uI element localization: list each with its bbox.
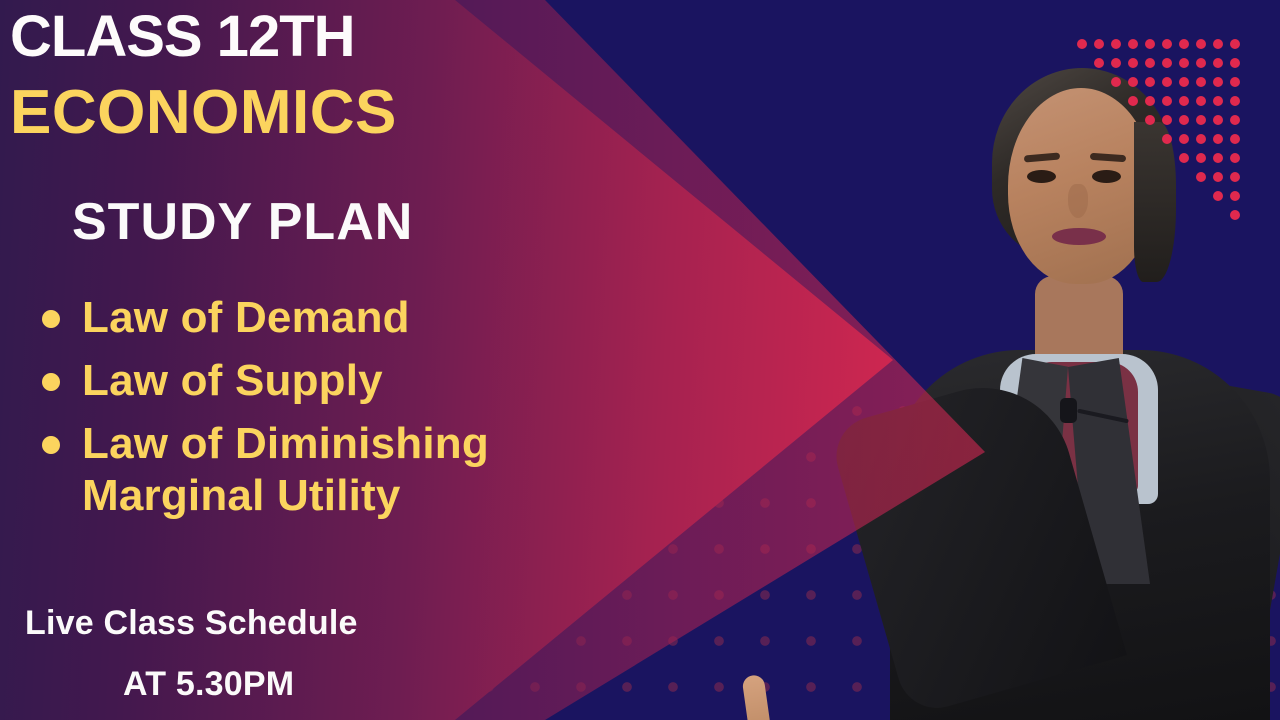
dot-triangle-row <box>1070 207 1240 226</box>
bullet-icon <box>42 373 60 391</box>
dot-icon <box>1230 172 1240 182</box>
dot-icon <box>1230 191 1240 201</box>
presenter-lips <box>1052 228 1106 245</box>
dot-triangle-row <box>1070 150 1240 169</box>
dot-icon <box>1162 39 1172 49</box>
dot-icon <box>1111 58 1121 68</box>
dot-icon <box>1179 115 1189 125</box>
topic-label: Law of Diminishing Marginal Utility <box>82 418 682 522</box>
bullet-icon <box>42 310 60 328</box>
dot-icon <box>1213 134 1223 144</box>
topic-list: Law of Demand Law of Supply Law of Dimin… <box>42 292 682 533</box>
dot-icon <box>1213 58 1223 68</box>
dot-icon <box>1179 134 1189 144</box>
dot-icon <box>1213 153 1223 163</box>
dot-icon <box>1213 115 1223 125</box>
dot-icon <box>1230 153 1240 163</box>
dot-triangle-row <box>1070 55 1240 74</box>
video-thumbnail: CLASS 12TH ECONOMICS STUDY PLAN Law of D… <box>0 0 1280 720</box>
dot-triangle-row <box>1070 112 1240 131</box>
dot-icon <box>1230 115 1240 125</box>
dot-triangle-row <box>1070 36 1240 55</box>
dot-icon <box>1111 77 1121 87</box>
dot-icon <box>1162 96 1172 106</box>
dot-icon <box>1179 96 1189 106</box>
subject-heading: ECONOMICS <box>10 82 397 144</box>
dot-icon <box>1179 58 1189 68</box>
dot-icon <box>1230 96 1240 106</box>
schedule-label: Live Class Schedule <box>25 604 358 643</box>
dot-icon <box>1094 58 1104 68</box>
dot-icon <box>1145 77 1155 87</box>
dot-icon <box>1077 39 1087 49</box>
dot-icon <box>1196 77 1206 87</box>
dot-icon <box>1196 58 1206 68</box>
study-plan-heading: STUDY PLAN <box>72 196 413 248</box>
dot-triangle-row <box>1070 74 1240 93</box>
dot-icon <box>1196 96 1206 106</box>
presenter-eye-left <box>1027 170 1056 183</box>
presenter-lapel-mic <box>1060 398 1077 423</box>
dot-icon <box>1179 39 1189 49</box>
dot-icon <box>1094 39 1104 49</box>
list-item: Law of Demand <box>42 292 682 344</box>
dot-icon <box>1196 134 1206 144</box>
dot-icon <box>1230 77 1240 87</box>
dot-icon <box>1213 172 1223 182</box>
dot-icon <box>1162 115 1172 125</box>
dot-icon <box>1213 77 1223 87</box>
dot-icon <box>1145 96 1155 106</box>
dot-triangle-row <box>1070 131 1240 150</box>
class-heading: CLASS 12TH <box>10 8 355 66</box>
dot-icon <box>1128 96 1138 106</box>
dot-icon <box>1128 77 1138 87</box>
dot-icon <box>1145 115 1155 125</box>
dot-icon <box>1162 77 1172 87</box>
dot-triangle-row <box>1070 169 1240 188</box>
dot-icon <box>1179 153 1189 163</box>
dot-icon <box>1162 134 1172 144</box>
dot-icon <box>1145 39 1155 49</box>
dot-icon <box>1213 96 1223 106</box>
list-item: Law of Supply <box>42 355 682 407</box>
dot-icon <box>1213 39 1223 49</box>
dot-icon <box>1196 172 1206 182</box>
topic-label: Law of Supply <box>82 355 383 407</box>
dot-triangle-pattern <box>1070 36 1240 226</box>
dot-icon <box>1196 39 1206 49</box>
dot-icon <box>1145 58 1155 68</box>
dot-icon <box>1162 58 1172 68</box>
dot-icon <box>1213 191 1223 201</box>
list-item: Law of Diminishing Marginal Utility <box>42 418 682 522</box>
dot-icon <box>1196 115 1206 125</box>
dot-icon <box>1230 39 1240 49</box>
dot-icon <box>1230 58 1240 68</box>
dot-icon <box>1128 58 1138 68</box>
topic-label: Law of Demand <box>82 292 410 344</box>
dot-icon <box>1196 153 1206 163</box>
dot-icon <box>1230 210 1240 220</box>
bullet-icon <box>42 436 60 454</box>
dot-triangle-row <box>1070 93 1240 112</box>
dot-triangle-row <box>1070 188 1240 207</box>
schedule-time: AT 5.30PM <box>123 665 294 704</box>
dot-icon <box>1111 39 1121 49</box>
dot-icon <box>1230 134 1240 144</box>
dot-icon <box>1128 39 1138 49</box>
dot-icon <box>1179 77 1189 87</box>
